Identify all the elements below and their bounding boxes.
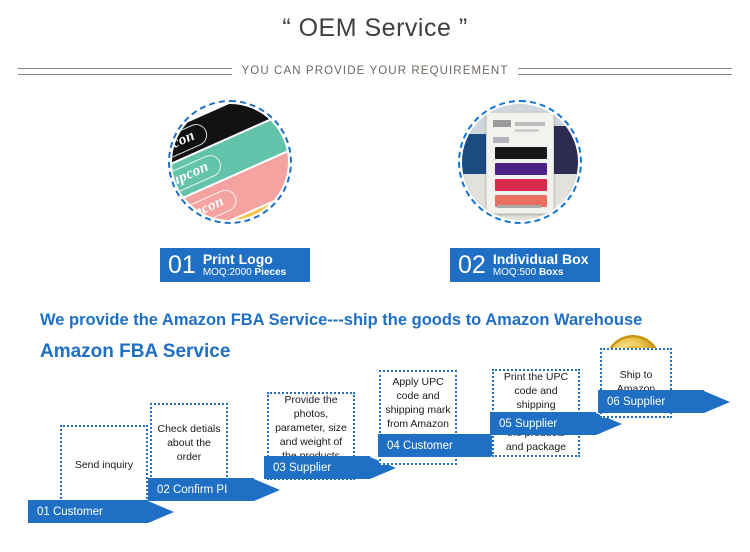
flow-step-02-box: Check detials about the order (150, 403, 228, 485)
flow-step-06-owner: 06 Supplier (607, 396, 665, 408)
flow-step-04-owner: 04 Customer (387, 440, 453, 452)
badge-title-01: Print Logo (203, 252, 286, 267)
flow-step-01-arrow[interactable]: 01 Customer (28, 500, 174, 523)
flow-step-05-owner: 05 Supplier (499, 418, 557, 430)
badge-moq-01: MOQ:2000 Pieces (203, 268, 286, 279)
badge-number-02: 02 (458, 253, 486, 278)
divider-line-right (518, 68, 732, 75)
product-bands-image: Aupcon Aupcon Aupcon (172, 104, 288, 220)
service-badge-02[interactable]: 02 Individual Box MOQ:500 Boxs (450, 248, 600, 282)
individual-box-photo (458, 100, 582, 224)
header-divider: YOU CAN PROVIDE YOUR REQUIREMENT (18, 62, 732, 80)
divider-line-left (18, 68, 232, 75)
box-photo-image (462, 104, 578, 220)
page-title: “ OEM Service ” (0, 14, 750, 43)
header-subtitle: YOU CAN PROVIDE YOUR REQUIREMENT (242, 65, 509, 77)
flow-step-02-description: Check detials about the order (156, 423, 222, 465)
service-badge-01[interactable]: 01 Print Logo MOQ:2000 Pieces (160, 248, 310, 282)
badge-moq-unit-01: Pieces (255, 267, 287, 278)
badge-title-02: Individual Box (493, 252, 589, 267)
flow-step-01-owner: 01 Customer (37, 506, 103, 518)
fba-headline: We provide the Amazon FBA Service---ship… (40, 311, 642, 330)
badge-moq-label-01: MOQ:2000 (203, 267, 252, 278)
flow-step-03-owner: 03 Supplier (273, 462, 331, 474)
flow-step-01-box: Send inquiry (60, 425, 148, 507)
badge-moq-02: MOQ:500 Boxs (493, 268, 589, 279)
badge-moq-unit-02: Boxs (539, 267, 563, 278)
flow-step-02-arrow[interactable]: 02 Confirm PI (148, 478, 280, 501)
flow-step-06-arrow[interactable]: 06 Supplier (598, 390, 730, 413)
fba-flow-chart: Send inquiry 01 Customer Check detials a… (0, 370, 750, 552)
flow-step-03-arrow[interactable]: 03 Supplier (264, 456, 396, 479)
flow-step-01-description: Send inquiry (75, 459, 133, 473)
fba-subheading: Amazon FBA Service (40, 341, 230, 363)
flow-step-02-owner: 02 Confirm PI (157, 484, 227, 496)
badge-moq-label-02: MOQ:500 (493, 267, 536, 278)
badge-number-01: 01 (168, 253, 196, 278)
print-logo-photo: Aupcon Aupcon Aupcon (168, 100, 292, 224)
